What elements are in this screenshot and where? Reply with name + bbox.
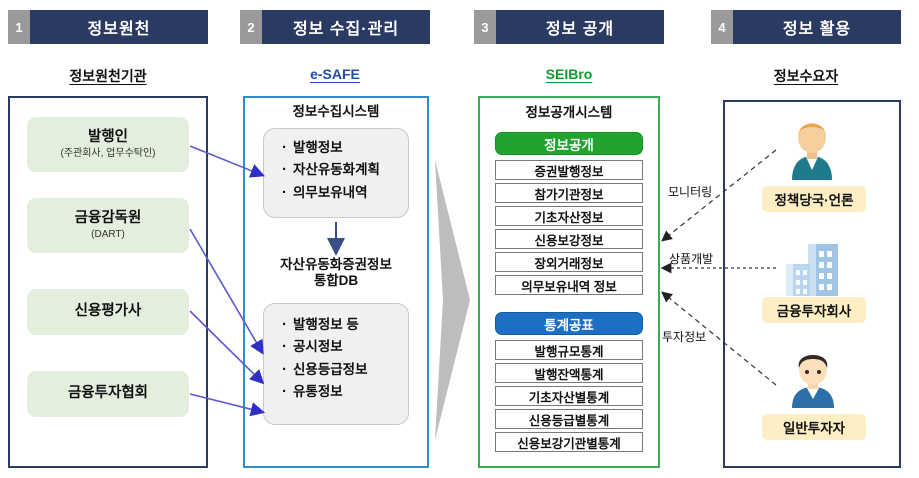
statistics-header[interactable]: 통계공표	[495, 312, 643, 335]
statistics-item-0[interactable]: 발행규모통계	[495, 340, 643, 360]
column-subtitle-4: 정보수요자	[711, 66, 901, 86]
column-number-2: 2	[240, 10, 262, 44]
column-title-4: 정보 활용	[733, 10, 901, 44]
statistics-item-2[interactable]: 기초자산별통계	[495, 386, 643, 406]
disclosure-item-2[interactable]: 기초자산정보	[495, 206, 643, 226]
source-box-issuer[interactable]: 발행인 (주관회사, 업무수탁인)	[27, 117, 189, 172]
db-item-2: 신용등급정보	[282, 359, 408, 381]
source-box-credit-rating-title: 신용평가사	[75, 303, 142, 320]
user-tag-retail-investor[interactable]: 일반투자자	[762, 414, 866, 440]
person-suit-icon	[780, 118, 844, 180]
column-number-1: 1	[8, 10, 30, 44]
column-subtitle-1: 정보원천기관	[8, 66, 208, 86]
column-title-2: 정보 수집·관리	[262, 10, 430, 44]
source-box-kofia[interactable]: 금융투자협회	[27, 371, 189, 417]
source-box-issuer-title: 발행인	[88, 129, 128, 146]
connector-label-investment-info: 투자정보	[662, 328, 706, 345]
disclosure-item-1[interactable]: 참가기관정보	[495, 183, 643, 203]
column-number-3: 3	[474, 10, 496, 44]
connector-label-product-dev: 상품개발	[669, 250, 713, 267]
column-header-3: 3 정보 공개	[474, 10, 664, 44]
disclosure-header[interactable]: 정보공개	[495, 132, 643, 155]
source-box-fss-title: 금융감독원	[75, 210, 142, 227]
integrated-db-label-line1: 자산유동화증권정보	[243, 257, 429, 273]
integrated-db-label-line2: 통합DB	[243, 273, 429, 289]
user-tag-financial-firm[interactable]: 금융투자회사	[762, 297, 866, 323]
statistics-item-4[interactable]: 신용보강기관별통계	[495, 432, 643, 452]
source-box-kofia-title: 금융투자협회	[68, 385, 148, 402]
source-box-fss[interactable]: 금융감독원 (DART)	[27, 198, 189, 253]
db-item-0: 발행정보 등	[282, 314, 408, 336]
column-subtitle-3: SEIBro	[474, 66, 664, 82]
column-subtitle-2: e-SAFE	[240, 66, 430, 82]
db-item-1: 공시정보	[282, 336, 408, 358]
column-header-2: 2 정보 수집·관리	[240, 10, 430, 44]
column-title-1: 정보원천	[30, 10, 208, 44]
statistics-item-3[interactable]: 신용등급별통계	[495, 409, 643, 429]
source-box-issuer-subtitle: (주관회사, 업무수탁인)	[60, 148, 155, 160]
column-header-4: 4 정보 활용	[711, 10, 901, 44]
disclosure-item-0[interactable]: 증권발행정보	[495, 160, 643, 180]
column-header-1: 1 정보원천	[8, 10, 208, 44]
collection-item-0: 발행정보	[282, 137, 408, 159]
person-casual-icon	[783, 352, 843, 408]
collection-system-label: 정보수집시스템	[243, 104, 429, 120]
disclosure-item-3[interactable]: 신용보강정보	[495, 229, 643, 249]
column-number-4: 4	[711, 10, 733, 44]
diagram-canvas: 1 정보원천 정보원천기관 발행인 (주관회사, 업무수탁인) 금융감독원 (D…	[0, 0, 919, 478]
collection-item-2: 의무보유내역	[282, 182, 408, 204]
big-flow-arrow	[435, 160, 470, 440]
collection-item-1: 자산유동화계획	[282, 159, 408, 181]
collection-system-items: 발행정보 자산유동화계획 의무보유내역	[263, 128, 409, 218]
integrated-db-label: 자산유동화증권정보 통합DB	[243, 257, 429, 289]
column-title-3: 정보 공개	[496, 10, 664, 44]
user-tag-policy-media[interactable]: 정책당국·언론	[762, 186, 866, 212]
source-box-fss-subtitle: (DART)	[91, 229, 125, 241]
disclosure-item-4[interactable]: 장외거래정보	[495, 252, 643, 272]
connector-label-monitoring: 모니터링	[668, 183, 712, 200]
integrated-db-items: 발행정보 등 공시정보 신용등급정보 유통정보	[263, 303, 409, 425]
source-box-credit-rating[interactable]: 신용평가사	[27, 289, 189, 335]
db-item-3: 유통정보	[282, 381, 408, 403]
office-building-icon	[782, 238, 844, 296]
disclosure-system-label: 정보공개시스템	[478, 105, 660, 121]
disclosure-item-5[interactable]: 의무보유내역 정보	[495, 275, 643, 295]
statistics-item-1[interactable]: 발행잔액통계	[495, 363, 643, 383]
